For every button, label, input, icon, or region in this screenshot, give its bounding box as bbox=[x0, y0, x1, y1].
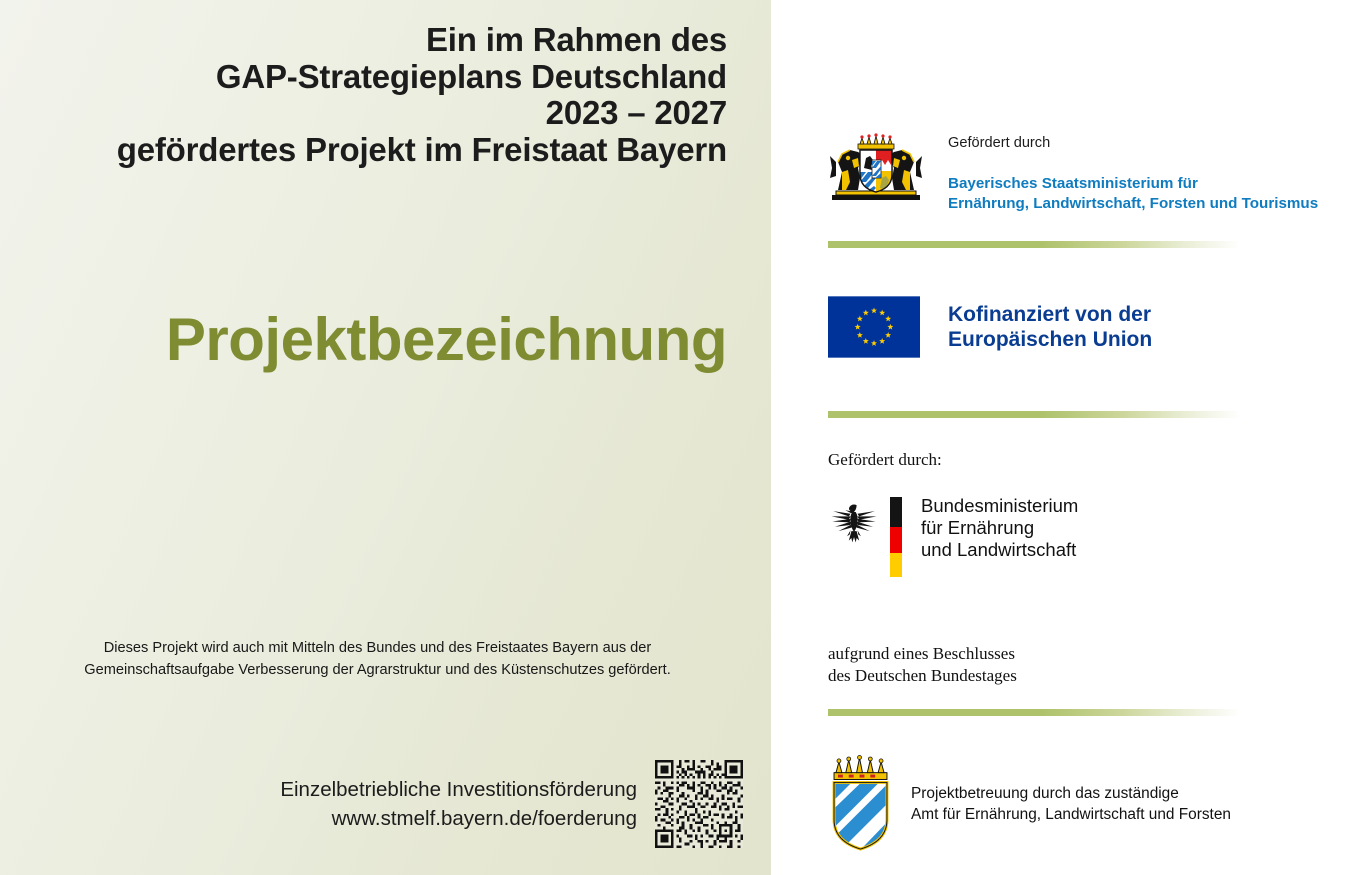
eu-logo-block: Kofinanziert von der Europäischen Union bbox=[828, 296, 1152, 358]
stmelf-name-line-1: Bayerisches Staatsministerium für bbox=[948, 174, 1318, 194]
aelf-text: Projektbetreuung durch das zuständige Am… bbox=[911, 783, 1231, 825]
poster-root: Ein im Rahmen des GAP-Strategieplans Deu… bbox=[0, 0, 1352, 875]
left-panel: Ein im Rahmen des GAP-Strategieplans Deu… bbox=[0, 0, 771, 875]
divider-3 bbox=[828, 709, 1240, 716]
bmel-name: Bundesministerium für Ernährung und Land… bbox=[921, 495, 1078, 561]
bundestag-note-line-2: des Deutschen Bundestages bbox=[828, 665, 1017, 687]
stmelf-eyebrow: Gefördert durch bbox=[948, 134, 1318, 152]
headline-line-1: Ein im Rahmen des bbox=[27, 22, 727, 59]
bundestag-note: aufgrund eines Beschlusses des Deutschen… bbox=[828, 643, 1017, 687]
qr-code[interactable] bbox=[655, 760, 743, 848]
divider-2 bbox=[828, 411, 1240, 418]
funding-note: Dieses Projekt wird auch mit Mitteln des… bbox=[28, 637, 727, 681]
aelf-block: Projektbetreuung durch das zuständige Am… bbox=[828, 755, 1231, 853]
eu-text-line-2: Europäischen Union bbox=[948, 327, 1152, 352]
headline-line-4: gefördertes Projekt im Freistaat Bayern bbox=[27, 132, 727, 169]
bmel-name-line-1: Bundesministerium bbox=[921, 495, 1078, 517]
bmel-logo-block: Bundesministerium für Ernährung und Land… bbox=[828, 495, 1078, 577]
funding-note-line-2: Gemeinschaftsaufgabe Verbesserung der Ag… bbox=[28, 659, 727, 681]
program-url[interactable]: www.stmelf.bayern.de/foerderung bbox=[280, 804, 637, 833]
stmelf-logo-block: Gefördert durch Bayerisches Staatsminist… bbox=[828, 132, 1318, 213]
project-title: Projektbezeichnung bbox=[0, 305, 727, 375]
eu-text-line-1: Kofinanziert von der bbox=[948, 302, 1152, 327]
bmel-name-line-2: für Ernährung bbox=[921, 517, 1078, 539]
bavarian-state-coat-of-arms-icon bbox=[828, 132, 924, 204]
european-union-flag-icon bbox=[828, 296, 920, 358]
headline: Ein im Rahmen des GAP-Strategieplans Deu… bbox=[27, 22, 727, 168]
eu-text: Kofinanziert von der Europäischen Union bbox=[948, 302, 1152, 352]
headline-line-2: GAP-Strategieplans Deutschland bbox=[27, 59, 727, 96]
bundestag-note-line-1: aufgrund eines Beschlusses bbox=[828, 643, 1017, 665]
bavaria-lozenge-shield-icon bbox=[828, 755, 893, 853]
stmelf-texts: Gefördert durch Bayerisches Staatsminist… bbox=[948, 132, 1318, 213]
aelf-text-line-1: Projektbetreuung durch das zuständige bbox=[911, 783, 1231, 804]
bottom-left-group: Einzelbetriebliche Investitionsförderung… bbox=[28, 760, 743, 848]
german-flag-bar-icon bbox=[890, 497, 902, 577]
federal-eagle-icon bbox=[828, 499, 880, 551]
bmel-eyebrow: Gefördert durch: bbox=[828, 450, 942, 470]
right-panel: Gefördert durch Bayerisches Staatsminist… bbox=[771, 0, 1352, 875]
divider-1 bbox=[828, 241, 1240, 248]
stmelf-name: Bayerisches Staatsministerium für Ernähr… bbox=[948, 174, 1318, 213]
funding-note-line-1: Dieses Projekt wird auch mit Mitteln des… bbox=[28, 637, 727, 659]
headline-line-3: 2023 – 2027 bbox=[27, 95, 727, 132]
stmelf-name-line-2: Ernährung, Landwirtschaft, Forsten und T… bbox=[948, 194, 1318, 214]
bmel-name-line-3: und Landwirtschaft bbox=[921, 539, 1078, 561]
program-info: Einzelbetriebliche Investitionsförderung… bbox=[280, 775, 637, 833]
program-name: Einzelbetriebliche Investitionsförderung bbox=[280, 775, 637, 804]
aelf-text-line-2: Amt für Ernährung, Landwirtschaft und Fo… bbox=[911, 804, 1231, 825]
